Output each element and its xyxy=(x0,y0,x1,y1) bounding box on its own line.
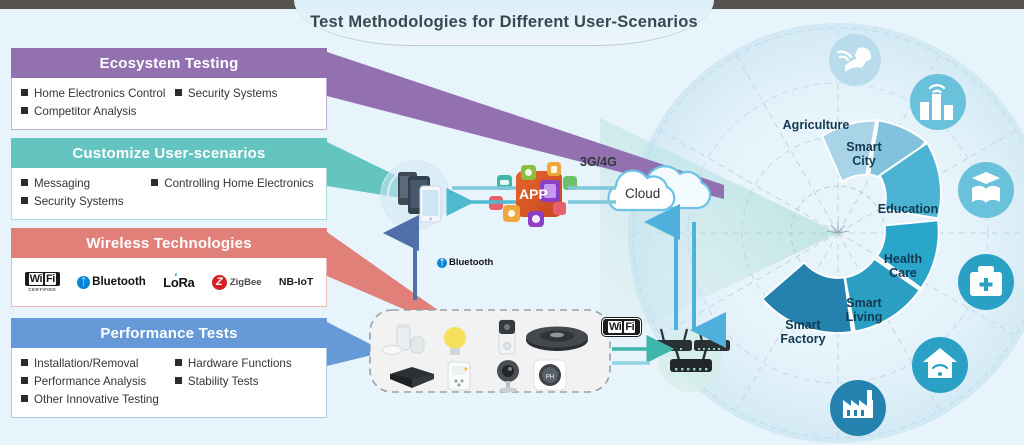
bullet-square-icon xyxy=(21,395,28,402)
panel-title-performance: Performance Tests xyxy=(100,325,237,342)
bullet-square-icon xyxy=(21,89,28,96)
health-care-kit-icon xyxy=(958,254,1014,310)
list-item: Hardware Functions xyxy=(175,355,317,372)
list-item: Security Systems xyxy=(175,85,317,102)
panel-header-wireless: Wireless Technologies xyxy=(11,228,327,258)
panel-body-customize: Messaging Controlling Home Electronics S… xyxy=(11,168,327,220)
wifi-certified-text: CERTIFIED xyxy=(28,287,56,292)
title-banner: Test Methodologies for Different User-Sc… xyxy=(294,0,714,46)
bluetooth-link-label: ᛏ Bluetooth xyxy=(437,257,493,268)
list-item: Controlling Home Electronics xyxy=(151,175,317,192)
zigbee-logo: Z ZigBee xyxy=(212,275,262,290)
bullet-square-icon xyxy=(21,179,28,186)
bluetooth-logo: ᛏ Bluetooth xyxy=(77,276,146,289)
bullet-square-icon xyxy=(21,377,28,384)
agriculture-wifi-icon xyxy=(829,34,881,86)
list-item-label: Stability Tests xyxy=(188,373,259,390)
list-item: Performance Analysis xyxy=(21,373,175,390)
segment-smart-factory xyxy=(762,263,852,334)
list-item-label: Competitor Analysis xyxy=(34,103,136,120)
list-item-label: Performance Analysis xyxy=(34,373,146,390)
wifi-logo-text-2: Fi xyxy=(45,273,56,285)
bullet-square-icon xyxy=(151,179,158,186)
zigbee-mark-icon: Z xyxy=(212,275,227,290)
education-book-icon xyxy=(958,162,1014,218)
bluetooth-mark-icon: ᛏ xyxy=(77,276,90,289)
list-item: Competitor Analysis xyxy=(21,103,317,120)
panel-ecosystem-testing[interactable]: Ecosystem Testing Home Electronics Contr… xyxy=(11,48,327,130)
wifi-logo-text-1: Wi xyxy=(29,273,43,285)
list-item-label: Security Systems xyxy=(34,193,124,210)
bluetooth-mark-icon: ᛏ xyxy=(437,258,447,268)
list-item-label: Security Systems xyxy=(188,85,278,102)
smart-city-wifi-icon xyxy=(910,74,966,130)
wheel-segments xyxy=(762,120,941,333)
panel-wireless-technologies[interactable]: Wireless Technologies WiFi CERTIFIED ᛏ B… xyxy=(11,228,327,307)
list-item: Home Electronics Control xyxy=(21,85,175,102)
lora-logo: ◐ LoRa xyxy=(163,275,194,290)
panel-header-customize: Customize User-scenarios xyxy=(11,138,327,168)
panel-header-performance: Performance Tests xyxy=(11,318,327,348)
nbiot-logo-text: NB-IoT xyxy=(279,276,313,288)
list-item: Security Systems xyxy=(21,193,317,210)
wifi-certified-logo: WiFi CERTIFIED xyxy=(25,272,60,292)
panel-customize-user-scenarios[interactable]: Customize User-scenarios Messaging Contr… xyxy=(11,138,327,220)
panel-title-wireless: Wireless Technologies xyxy=(86,235,252,252)
list-item: Other Innovative Testing xyxy=(21,391,317,408)
smart-home-wifi-icon xyxy=(912,337,968,393)
bullet-square-icon xyxy=(21,107,28,114)
panel-header-ecosystem: Ecosystem Testing xyxy=(11,48,327,78)
bullet-square-icon xyxy=(21,359,28,366)
bullet-square-icon xyxy=(21,197,28,204)
list-item-label: Installation/Removal xyxy=(34,355,138,372)
panel-body-performance: Installation/Removal Hardware Functions … xyxy=(11,348,327,418)
smart-factory-icon xyxy=(830,380,886,436)
lora-wave-icon: ◐ xyxy=(174,270,179,279)
bullet-square-icon xyxy=(175,89,182,96)
zigbee-logo-text: ZigBee xyxy=(230,277,262,288)
bluetooth-logo-text: Bluetooth xyxy=(92,276,146,288)
panel-title-ecosystem: Ecosystem Testing xyxy=(99,55,238,72)
wifi-badge-text-2: Fi xyxy=(624,321,635,333)
bluetooth-link-text: Bluetooth xyxy=(449,257,493,268)
bullet-square-icon xyxy=(175,359,182,366)
list-item: Messaging xyxy=(21,175,151,192)
segment-agriculture xyxy=(822,120,876,181)
list-item-label: Other Innovative Testing xyxy=(34,391,159,408)
cloud-label: Cloud xyxy=(625,186,660,201)
list-item-label: Hardware Functions xyxy=(188,355,292,372)
panel-body-ecosystem: Home Electronics Control Security System… xyxy=(11,78,327,130)
panel-body-wireless: WiFi CERTIFIED ᛏ Bluetooth ◐ LoRa Z ZigB… xyxy=(11,258,327,307)
bullet-square-icon xyxy=(175,377,182,384)
page-title: Test Methodologies for Different User-Sc… xyxy=(310,13,698,32)
panel-performance-tests[interactable]: Performance Tests Installation/Removal H… xyxy=(11,318,327,418)
list-item-label: Home Electronics Control xyxy=(34,85,165,102)
network-label-3g4g: 3G/4G xyxy=(580,155,617,169)
wifi-link-badge: WiFi xyxy=(602,318,641,336)
list-item-label: Controlling Home Electronics xyxy=(164,175,314,192)
list-item-label: Messaging xyxy=(34,175,90,192)
panel-title-customize: Customize User-scenarios xyxy=(72,145,265,162)
wifi-badge-text-1: Wi xyxy=(608,321,622,333)
list-item: Stability Tests xyxy=(175,373,317,390)
list-item: Installation/Removal xyxy=(21,355,175,372)
app-label: APP xyxy=(519,186,548,202)
